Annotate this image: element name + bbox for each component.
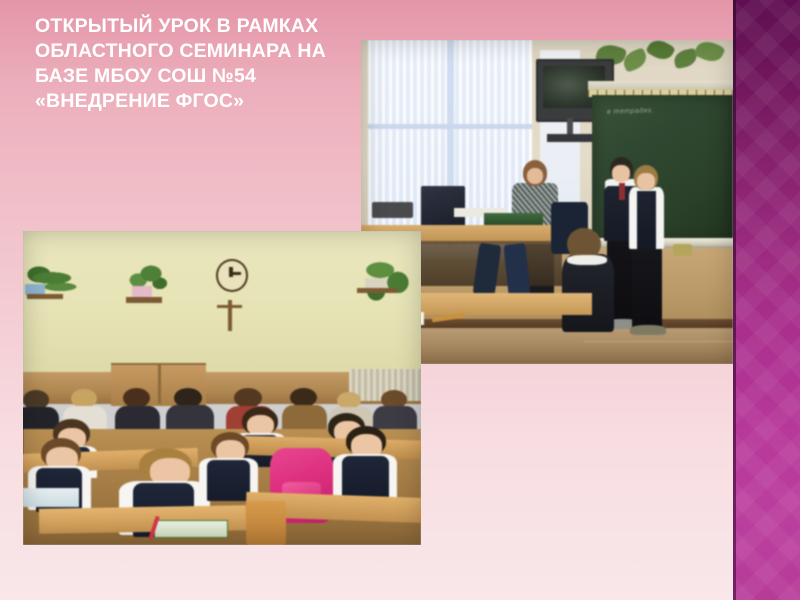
boy-right-face — [637, 173, 655, 190]
photo-bottom-classroom — [23, 231, 421, 545]
title-line-3: БАЗЕ МБОУ СОШ №54 — [35, 64, 355, 89]
textbook-green — [154, 520, 228, 538]
chair-back — [246, 501, 286, 545]
boy-right-vest — [637, 191, 656, 249]
laptop — [421, 186, 466, 225]
wall-shelf-center — [126, 297, 162, 303]
presentation-slide: ОТКРЫТЫЙ УРОК В РАМКАХ ОБЛАСТНОГО СЕМИНА… — [0, 0, 800, 600]
clock-minute-hand — [230, 272, 242, 275]
textbook-light — [23, 488, 79, 507]
argyle-pattern — [733, 0, 800, 600]
chalk-writing: в тетрадях. — [606, 107, 654, 115]
tv-base-shelf — [547, 134, 595, 142]
title-line-1: ОТКРЫТЫЙ УРОК В РАМКАХ — [35, 14, 355, 39]
floor-seam — [584, 341, 733, 342]
boy-left-tie — [619, 183, 625, 200]
boy-right-trousers — [632, 244, 663, 328]
title-line-4: «ВНЕДРЕНИЕ ФГОС» — [35, 89, 355, 114]
band-edge-line — [733, 0, 736, 600]
wall-shelf-left — [27, 294, 63, 300]
boy-right-shoes — [630, 325, 666, 335]
teacher-face — [527, 168, 543, 184]
photo-bottom-content — [23, 231, 421, 545]
books-stack — [484, 213, 544, 224]
pupil-foreground-collar — [567, 255, 606, 265]
blackboard-sponge — [673, 244, 692, 256]
wall-shelf-right — [357, 288, 397, 294]
slide-title: ОТКРЫТЫЙ УРОК В РАМКАХ ОБЛАСТНОГО СЕМИНА… — [35, 14, 355, 114]
wall-bracket-horizontal — [217, 305, 242, 308]
printer — [372, 202, 413, 218]
window-frame-horizontal — [368, 124, 532, 129]
wall-plant-right — [353, 250, 421, 310]
title-line-2: ОБЛАСТНОГО СЕМИНАРА НА — [35, 39, 355, 64]
boy-left-face — [612, 165, 630, 182]
right-accent-band — [733, 0, 800, 600]
